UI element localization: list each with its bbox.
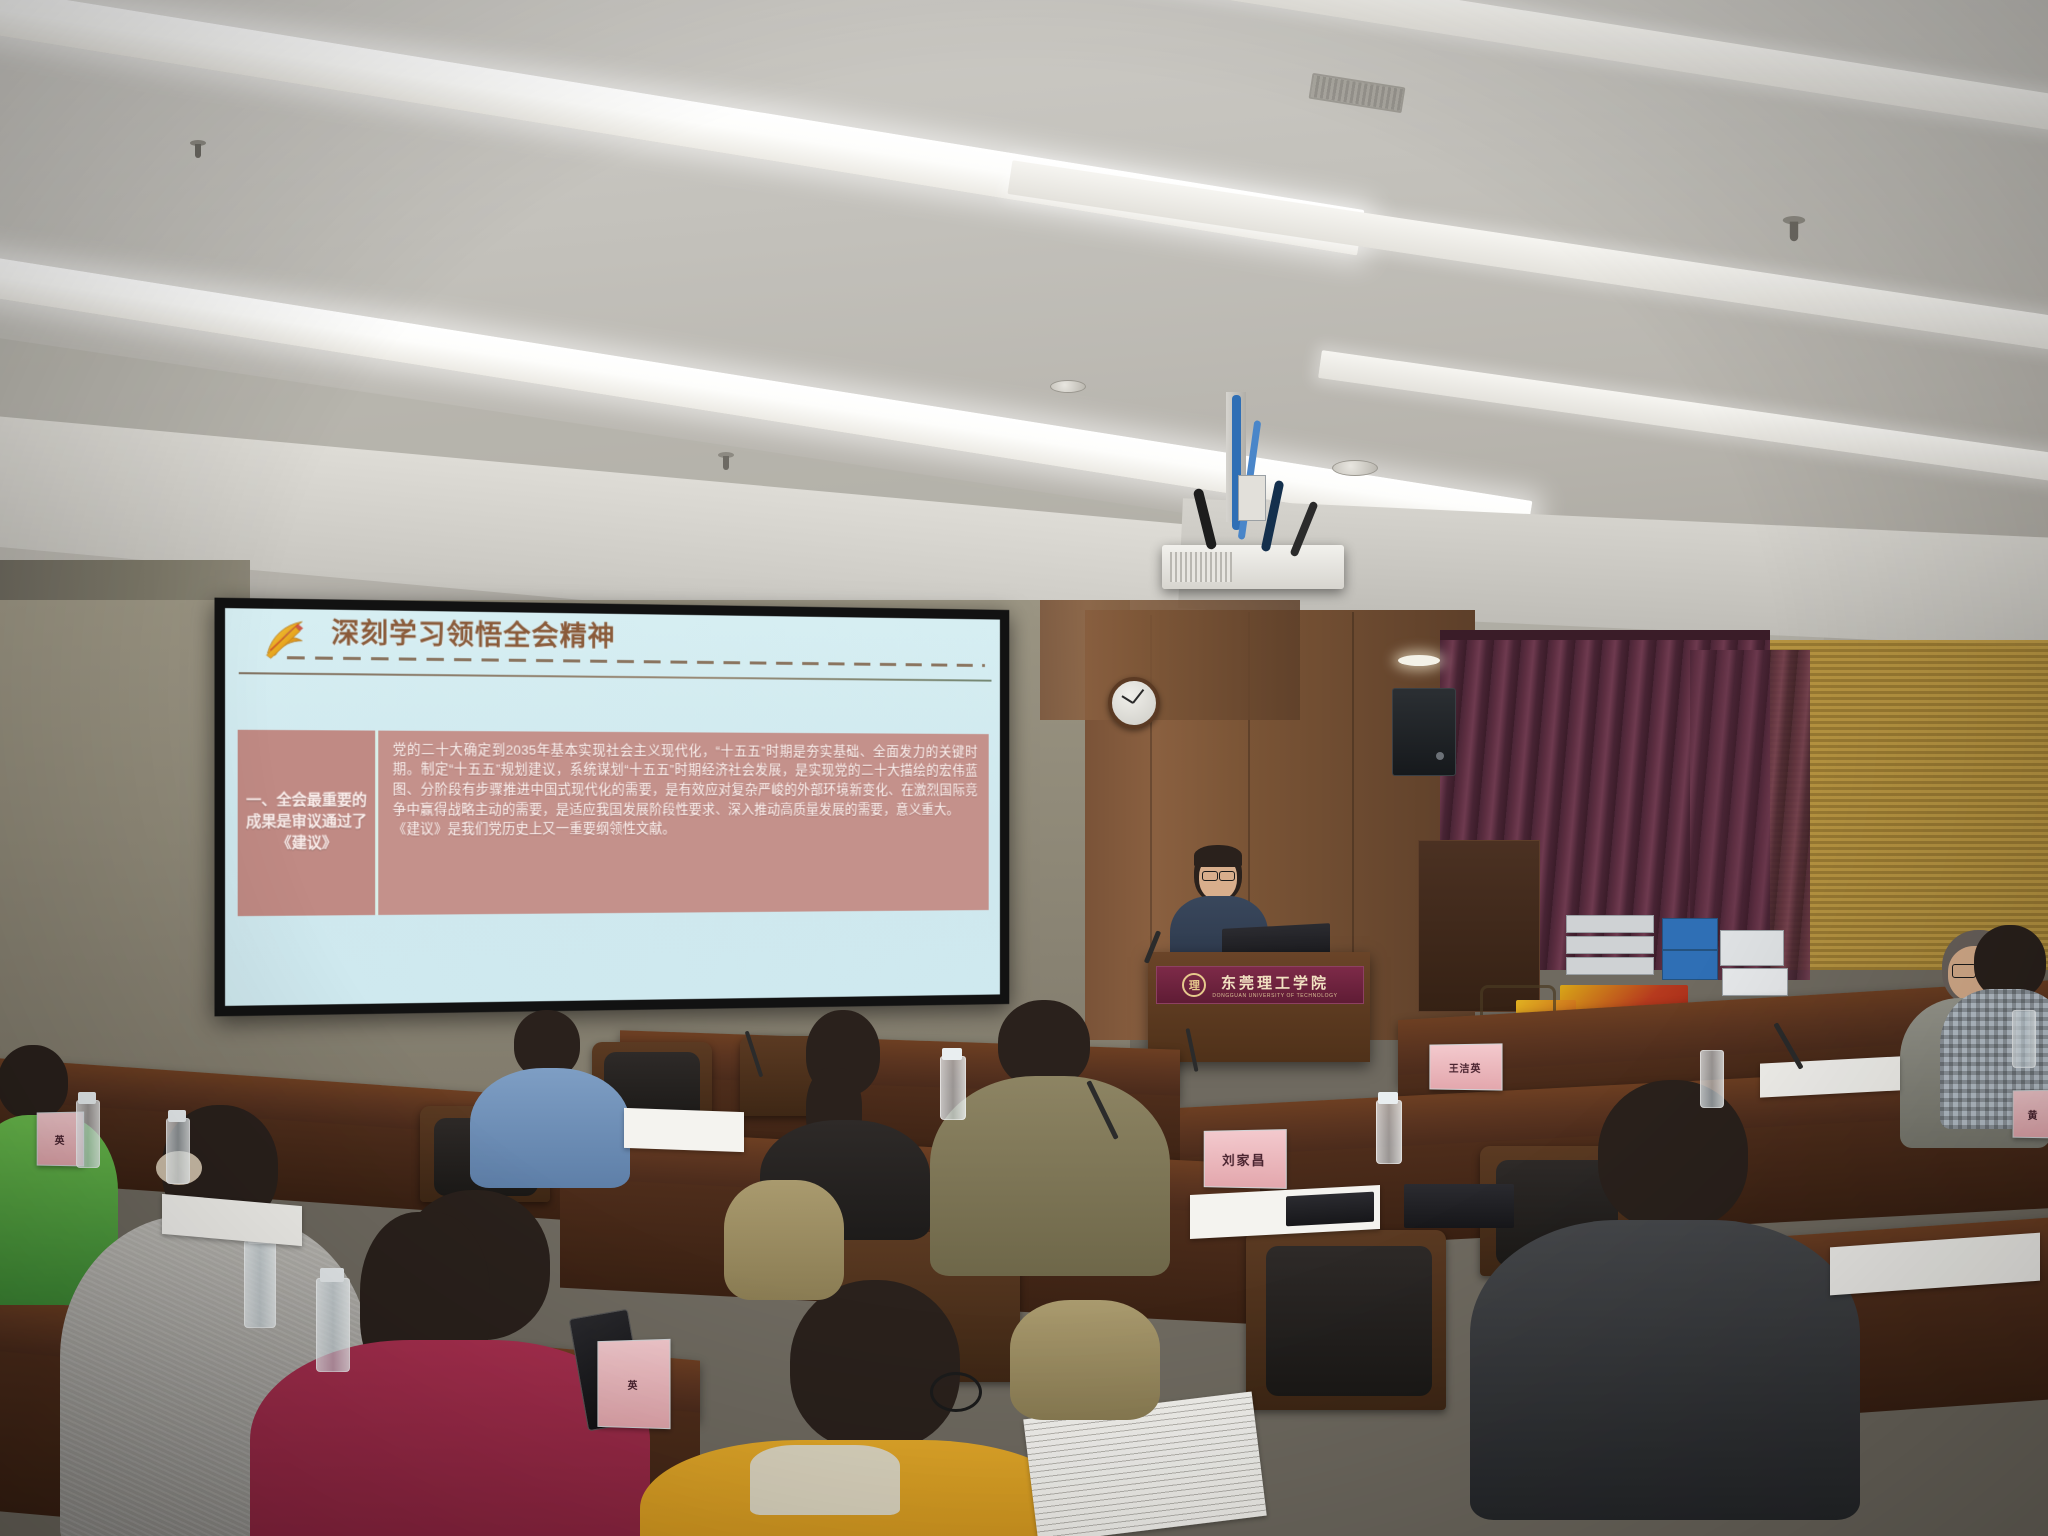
slide-header: 深刻学习领悟全会精神 [225, 608, 1000, 728]
attendee-blue-shirt [470, 1010, 630, 1170]
slide-title: 深刻学习领悟全会精神 [331, 620, 615, 651]
handbag [724, 1180, 844, 1300]
air-vent [1309, 73, 1406, 113]
slide-body-text: 党的二十大确定到2035年基本实现社会主义现代化，“十五五”时期是夯实基础、全面… [393, 740, 978, 840]
water-bottle [1700, 1050, 1724, 1108]
bottle-cap [78, 1092, 96, 1104]
projection-screen: 深刻学习领悟全会精神 一、全会最重要的成果是审议通过了《建议》 党的二十大确定到… [225, 608, 1000, 1006]
chair-back-cushion [1266, 1246, 1432, 1396]
slide-sidebar-heading: 一、全会最重要的成果是审议通过了《建议》 [244, 790, 369, 855]
equipment-tray [1722, 968, 1788, 996]
slide-divider-dashed [286, 656, 985, 667]
slide-content-panel: 党的二十大确定到2035年基本实现社会主义现代化，“十五五”时期是夯实基础、全面… [375, 730, 989, 915]
slide-paragraph-1: 党的二十大确定到2035年基本实现社会主义现代化，“十五五”时期是夯实基础、全面… [393, 740, 978, 820]
clock-minute-hand [1132, 689, 1144, 704]
projector-adapter [1238, 475, 1266, 521]
slide-divider-solid [239, 672, 991, 682]
attendee-collar [750, 1445, 900, 1515]
nameplate-text: 王洁英 [1449, 1059, 1482, 1074]
attendee-yellow-shirt [640, 1280, 1080, 1536]
attendee-head [790, 1280, 960, 1450]
wall-speaker [1392, 688, 1456, 776]
equipment-tray [1720, 930, 1784, 966]
attendee-torso [1470, 1220, 1860, 1520]
equipment-unit [1566, 915, 1654, 933]
ceiling-led-strip [1007, 160, 2048, 365]
nameplate: 英 [597, 1339, 670, 1429]
slide: 深刻学习领悟全会精神 一、全会最重要的成果是审议通过了《建议》 党的二十大确定到… [225, 608, 1000, 1006]
lectern-sign: 理 东莞理工学院 DONGGUAN UNIVERSITY OF TECHNOLO… [1156, 966, 1364, 1004]
water-bottle [940, 1056, 966, 1120]
ceiling-led-strip [697, 0, 2048, 150]
ceiling-led-strip [0, 0, 1364, 256]
equipment-crate [1662, 918, 1718, 950]
handbag [1010, 1300, 1160, 1420]
sprinkler-icon [1783, 216, 1805, 244]
water-bottle [76, 1100, 100, 1168]
attendee-dark-suit [1470, 1080, 1860, 1500]
attendee-head [998, 1000, 1090, 1088]
projector-vent [1170, 552, 1232, 582]
nameplate: 刘家昌 [1204, 1129, 1287, 1189]
nameplate-text: 刘家昌 [1222, 1149, 1266, 1168]
wall-wood-upper [1040, 600, 1300, 720]
bottle-cap [1378, 1092, 1398, 1104]
document-sheet [624, 1108, 744, 1152]
water-bottle [244, 1240, 276, 1328]
nameplate: 黄 [2013, 1090, 2048, 1139]
water-bottle [316, 1278, 350, 1372]
university-name-cn: 东莞理工学院 [1221, 972, 1329, 993]
equipment-crate [1662, 950, 1718, 980]
speaker-logo [1436, 752, 1444, 760]
presenter-glasses-icon [1219, 871, 1235, 881]
nameplate-text: 黄 [2028, 1106, 2039, 1121]
attendee-torso [470, 1068, 630, 1188]
presenter-hair [1194, 845, 1242, 867]
projection-screen-frame: 深刻学习领悟全会精神 一、全会最重要的成果是审议通过了《建议》 党的二十大确定到… [215, 598, 1010, 1017]
water-bottle [166, 1118, 190, 1184]
attendee-torso [930, 1076, 1170, 1276]
slide-sidebar-panel: 一、全会最重要的成果是审议通过了《建议》 [237, 729, 375, 916]
equipment-unit [1566, 936, 1654, 954]
nameplate-text: 英 [55, 1131, 66, 1146]
ceiling-led-strip [1318, 350, 2048, 492]
tablet-device [1286, 1192, 1374, 1227]
attendee-head [1598, 1080, 1748, 1230]
water-bottle [2012, 1010, 2036, 1068]
attendee-head [1974, 925, 2046, 999]
sprinkler-icon [718, 452, 734, 472]
wall-clock [1108, 677, 1160, 729]
bottle-cap [320, 1268, 344, 1282]
slide-paragraph-2: 《建议》是我们党历史上又一重要纲领性文献。 [393, 819, 978, 840]
sprinkler-icon [190, 140, 206, 160]
downlight-icon [1398, 655, 1440, 666]
attendee-head [0, 1045, 68, 1119]
slide-body: 一、全会最重要的成果是审议通过了《建议》 党的二十大确定到2035年基本实现社会… [237, 729, 989, 916]
presenter-glasses-icon [1202, 871, 1218, 881]
bottle-cap [168, 1110, 186, 1122]
water-bottle [1376, 1100, 1402, 1164]
tablet-device [1404, 1184, 1514, 1228]
equipment-unit [1566, 957, 1654, 975]
smoke-detector-icon [1332, 460, 1378, 476]
conference-room-photo: 深刻学习领悟全会精神 一、全会最重要的成果是审议通过了《建议》 党的二十大确定到… [0, 0, 2048, 1536]
nameplate: 王洁英 [1429, 1043, 1502, 1090]
university-logo-icon: 理 [1182, 973, 1206, 997]
university-name-en: DONGGUAN UNIVERSITY OF TECHNOLOGY [1212, 993, 1337, 999]
attendee-glasses-icon [930, 1372, 982, 1412]
bottle-cap [942, 1048, 962, 1060]
smoke-detector-icon [1050, 380, 1086, 393]
nameplate-text: 英 [628, 1376, 639, 1391]
attendee-olive-jacket [930, 1000, 1170, 1260]
